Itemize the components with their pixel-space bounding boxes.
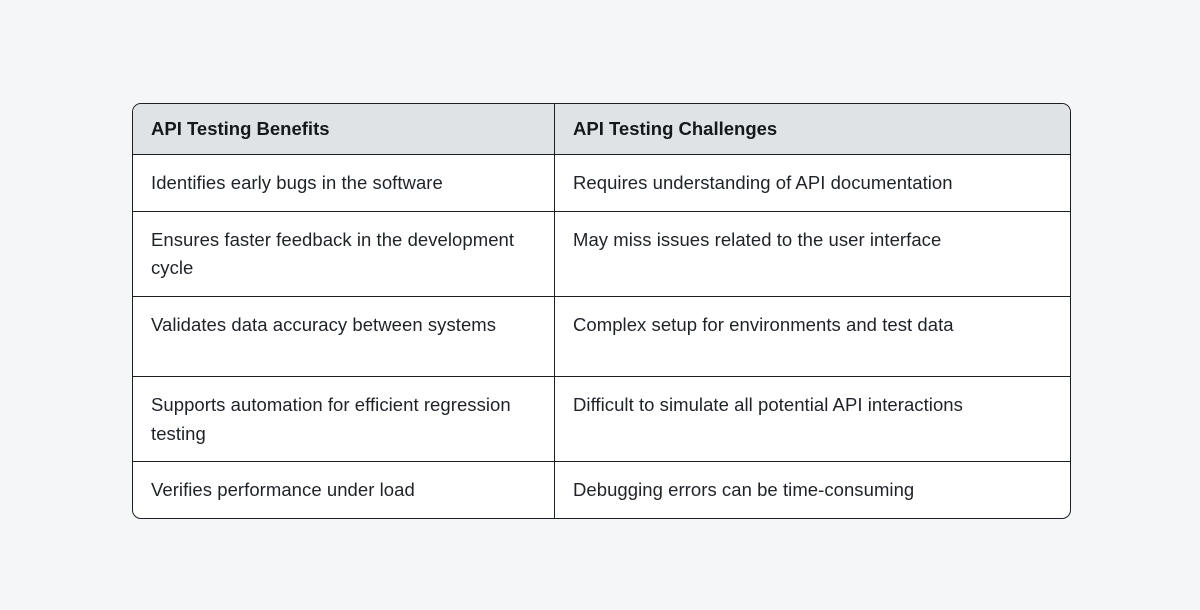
cell-text: Debugging errors can be time-consuming	[573, 476, 1052, 505]
column-header-benefits: API Testing Benefits	[133, 104, 554, 155]
cell-text: May miss issues related to the user inte…	[573, 226, 1052, 255]
cell-text: Verifies performance under load	[151, 476, 536, 505]
table-body: Identifies early bugs in the software Re…	[133, 155, 1070, 518]
cell-challenge-3: Complex setup for environments and test …	[554, 296, 1070, 376]
cell-benefit-5: Verifies performance under load	[133, 461, 554, 518]
table-header-row: API Testing Benefits API Testing Challen…	[133, 104, 1070, 155]
cell-benefit-4: Supports automation for efficient regres…	[133, 376, 554, 461]
cell-text: Complex setup for environments and test …	[573, 311, 1052, 340]
cell-benefit-2: Ensures faster feedback in the developme…	[133, 211, 554, 296]
cell-challenge-1: Requires understanding of API documentat…	[554, 155, 1070, 211]
cell-benefit-1: Identifies early bugs in the software	[133, 155, 554, 211]
cell-text: Validates data accuracy between systems	[151, 311, 536, 340]
cell-challenge-5: Debugging errors can be time-consuming	[554, 461, 1070, 518]
table-row: Validates data accuracy between systems …	[133, 296, 1070, 376]
table-row: Identifies early bugs in the software Re…	[133, 155, 1070, 211]
api-testing-comparison-table: API Testing Benefits API Testing Challen…	[132, 103, 1071, 519]
column-header-challenges: API Testing Challenges	[554, 104, 1070, 155]
cell-challenge-4: Difficult to simulate all potential API …	[554, 376, 1070, 461]
page-canvas: API Testing Benefits API Testing Challen…	[0, 0, 1200, 610]
table-row: Ensures faster feedback in the developme…	[133, 211, 1070, 296]
cell-text: Supports automation for efficient regres…	[151, 391, 536, 448]
cell-text: Difficult to simulate all potential API …	[573, 391, 1052, 420]
cell-text: Identifies early bugs in the software	[151, 169, 536, 198]
cell-text: Requires understanding of API documentat…	[573, 169, 1052, 198]
cell-benefit-3: Validates data accuracy between systems	[133, 296, 554, 376]
cell-challenge-2: May miss issues related to the user inte…	[554, 211, 1070, 296]
comparison-table-container: API Testing Benefits API Testing Challen…	[132, 103, 1069, 519]
table-row: Verifies performance under load Debuggin…	[133, 461, 1070, 518]
table-row: Supports automation for efficient regres…	[133, 376, 1070, 461]
table-header: API Testing Benefits API Testing Challen…	[133, 104, 1070, 155]
cell-text: Ensures faster feedback in the developme…	[151, 226, 536, 283]
